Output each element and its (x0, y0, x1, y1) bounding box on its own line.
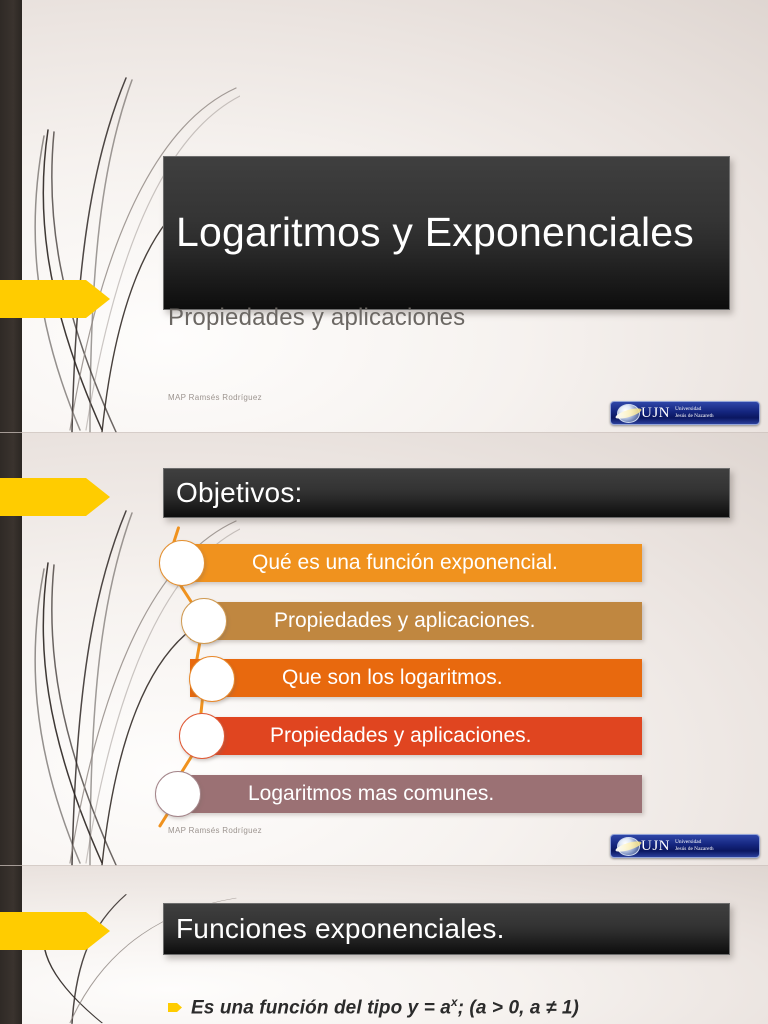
logo-line-1: Universidad (675, 406, 714, 413)
bullet-exponent: x (451, 996, 458, 1009)
globe-icon (617, 837, 640, 856)
yellow-chevron-slide-1 (0, 280, 110, 318)
slide-1-author: MAP Ramsés Rodríguez (168, 393, 262, 402)
objective-circle-1 (159, 540, 205, 586)
bullet-prefix: Es una función del tipo y = a (191, 997, 451, 1018)
yellow-chevron-slide-3 (0, 912, 110, 950)
objective-label-3: Que son los logaritmos. (190, 666, 503, 690)
slide-1: Logaritmos y Exponenciales Propiedades y… (0, 0, 768, 433)
objective-label-4: Propiedades y aplicaciones. (190, 724, 532, 748)
slide-3-title-bar: Funciones exponenciales. (163, 903, 730, 955)
objective-bar-3[interactable]: Que son los logaritmos. (190, 659, 642, 697)
yellow-bullet-arrow-icon (168, 1003, 182, 1012)
slide-3-title: Funciones exponenciales. (164, 914, 505, 943)
objective-bar-4[interactable]: Propiedades y aplicaciones. (190, 717, 642, 755)
yellow-chevron-slide-2 (0, 478, 110, 516)
objective-label-5: Logaritmos mas comunes. (190, 782, 494, 806)
left-spine-bar-slide-1 (0, 0, 22, 433)
objective-circle-4 (179, 713, 225, 759)
slide-2-university-logo: UJN Universidad Jesús de Nazareth (610, 834, 760, 858)
logo-line-1: Universidad (675, 839, 714, 846)
objective-circle-5 (155, 771, 201, 817)
objective-bar-1[interactable]: Qué es una función exponencial. (190, 544, 642, 582)
slide-1-university-logo: UJN Universidad Jesús de Nazareth (610, 401, 760, 425)
logo-acronym: UJN (641, 839, 670, 854)
slide-1-subtitle: Propiedades y aplicaciones (168, 304, 465, 332)
logo-acronym: UJN (641, 406, 670, 421)
objectives-list: Qué es una función exponencial. Propieda… (150, 540, 650, 820)
slide-2: Objetivos: Qué es una función exponencia… (0, 433, 768, 866)
objective-circle-2 (181, 598, 227, 644)
slide-2-title-bar: Objetivos: (163, 468, 730, 518)
slide-3-bullet-row: Es una función del tipo y = ax; (a > 0, … (168, 996, 579, 1020)
slide-3-bullet-text: Es una función del tipo y = ax; (a > 0, … (191, 996, 579, 1020)
slide-1-title-bar: Logaritmos y Exponenciales (163, 156, 730, 310)
objective-label-2: Propiedades y aplicaciones. (190, 609, 536, 633)
logo-line-2: Jesús de Nazareth (675, 846, 714, 853)
slide-deck: Logaritmos y Exponenciales Propiedades y… (0, 0, 768, 1024)
bullet-suffix: ; (a > 0, a ≠ 1) (458, 997, 579, 1018)
objective-label-1: Qué es una función exponencial. (190, 551, 558, 575)
globe-icon (617, 404, 640, 423)
slide-2-author: MAP Ramsés Rodríguez (168, 826, 262, 835)
logo-line-2: Jesús de Nazareth (675, 413, 714, 420)
objective-bar-2[interactable]: Propiedades y aplicaciones. (190, 602, 642, 640)
slide-2-title: Objetivos: (164, 478, 303, 507)
objective-circle-3 (189, 656, 235, 702)
slide-1-title: Logaritmos y Exponenciales (164, 211, 694, 254)
objective-bar-5[interactable]: Logaritmos mas comunes. (190, 775, 642, 813)
